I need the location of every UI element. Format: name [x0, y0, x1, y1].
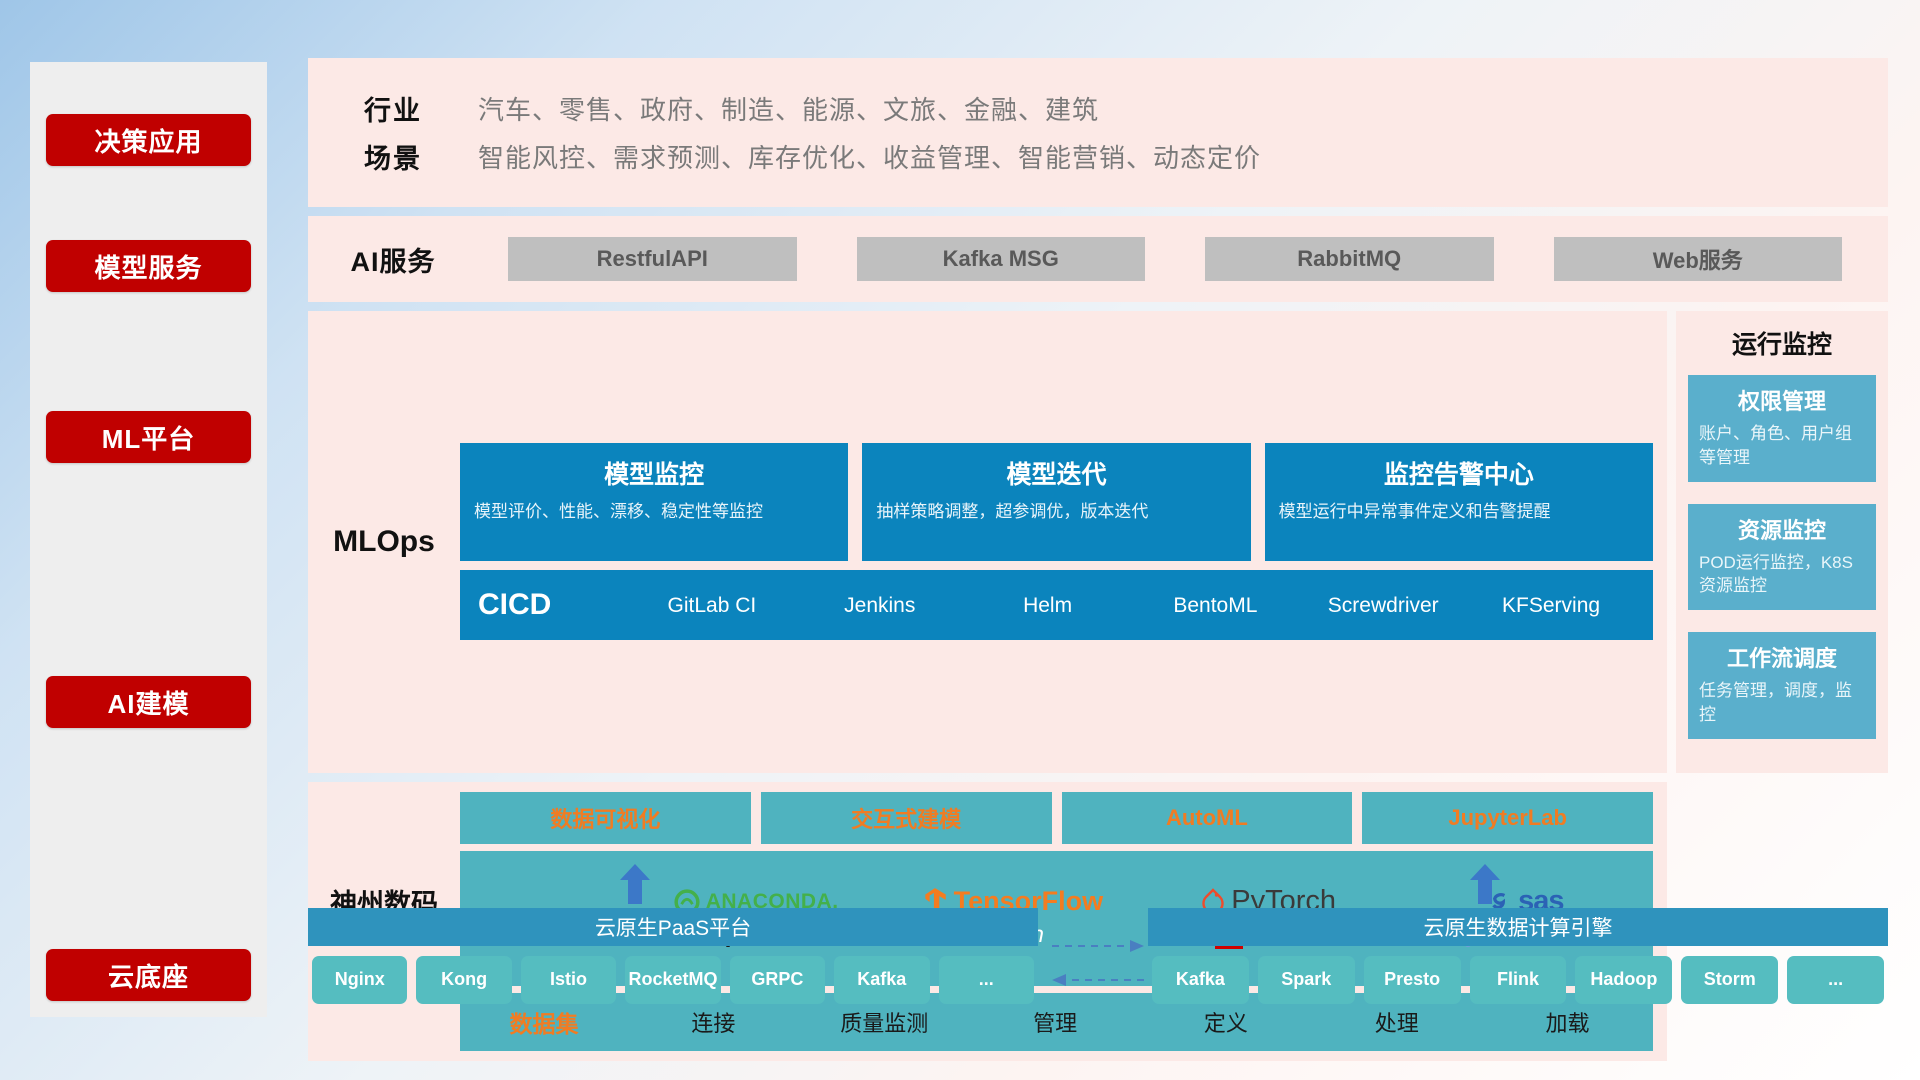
monitor-card-title: 权限管理 [1699, 384, 1865, 416]
application-row-industry: 行业 汽车、零售、政府、制造、能源、文旅、金融、建筑 [308, 89, 1888, 128]
service-chip-label: RestfulAPI [597, 246, 708, 272]
cicd-bar: CICD GitLab CI Jenkins Helm BentoML Scre… [460, 570, 1653, 640]
mlops-card-desc: 模型评价、性能、漂移、稳定性等监控 [474, 500, 834, 525]
paas-chip-grpc[interactable]: GRPC [730, 956, 825, 1004]
paas-chip-kong[interactable]: Kong [416, 956, 511, 1004]
service-chip-kafka-msg[interactable]: Kafka MSG [857, 237, 1146, 281]
rail-badge-ai-modeling[interactable]: AI建模 [46, 676, 251, 728]
cloud-native-data-engine-title: 云原生数据计算引擎 [1148, 908, 1888, 946]
paas-chip-list: Nginx Kong Istio RocketMQ GRPC Kafka ... [308, 946, 1038, 1010]
mlops-card-title: 模型迭代 [876, 455, 1236, 491]
mlops-and-monitor-row: MLOps 模型监控 模型评价、性能、漂移、稳定性等监控 模型迭代 抽样策略调整… [308, 311, 1888, 773]
cicd-item-jenkins[interactable]: Jenkins [796, 594, 964, 617]
rail-badge-ml-platform[interactable]: ML平台 [46, 411, 251, 463]
monitor-card-permission[interactable]: 权限管理 账户、角色、用户组等管理 [1688, 375, 1876, 482]
rail-badge-label: 模型服务 [94, 248, 202, 285]
mlops-card-desc: 模型运行中异常事件定义和告警提醒 [1279, 500, 1639, 525]
ai-service-band: AI服务 RestfulAPI Kafka MSG RabbitMQ Web服务 [308, 216, 1888, 302]
paas-chip-istio[interactable]: Istio [521, 956, 616, 1004]
mlops-label: MLOps [308, 525, 460, 559]
paas-chip-rocketmq[interactable]: RocketMQ [625, 956, 720, 1004]
lab-tab-jupyterlab[interactable]: JupyterLab [1362, 792, 1653, 844]
monitor-card-desc: 账户、角色、用户组等管理 [1699, 422, 1865, 470]
rail-badge-cloud-base[interactable]: 云底座 [46, 949, 251, 1001]
service-chip-label: Kafka MSG [943, 246, 1059, 272]
mlops-card-model-iteration[interactable]: 模型迭代 抽样策略调整，超参调优，版本迭代 [862, 443, 1250, 561]
engine-chip-storm[interactable]: Storm [1681, 956, 1778, 1004]
mlops-card-desc: 抽样策略调整，超参调优，版本迭代 [876, 500, 1236, 525]
engine-chip-kafka[interactable]: Kafka [1152, 956, 1249, 1004]
scenario-value: 智能风控、需求预测、库存优化、收益管理、智能营销、动态定价 [478, 138, 1261, 175]
cloud-native-paas-box: 云原生PaaS平台 Nginx Kong Istio RocketMQ GRPC… [308, 908, 1038, 1010]
monitor-card-title: 工作流调度 [1699, 641, 1865, 673]
paas-chip-more[interactable]: ... [939, 956, 1034, 1004]
cicd-item-bentoml[interactable]: BentoML [1131, 594, 1299, 617]
cicd-item-kfserving[interactable]: KFServing [1467, 594, 1635, 617]
mlops-card-model-monitoring[interactable]: 模型监控 模型评价、性能、漂移、稳定性等监控 [460, 443, 848, 561]
rail-badge-label: 云底座 [108, 957, 189, 994]
runtime-monitor-title: 运行监控 [1688, 325, 1876, 361]
engine-chip-hadoop[interactable]: Hadoop [1575, 956, 1672, 1004]
rail-badge-label: AI建模 [107, 684, 189, 721]
mlops-card-alert-center[interactable]: 监控告警中心 模型运行中异常事件定义和告警提醒 [1265, 443, 1653, 561]
cicd-title: CICD [478, 588, 628, 622]
mlops-card-title: 监控告警中心 [1279, 455, 1639, 491]
service-chip-rabbitmq[interactable]: RabbitMQ [1205, 237, 1494, 281]
scenario-key: 场景 [308, 137, 478, 176]
engine-chip-presto[interactable]: Presto [1364, 956, 1461, 1004]
application-band: 行业 汽车、零售、政府、制造、能源、文旅、金融、建筑 场景 智能风控、需求预测、… [308, 58, 1888, 207]
industry-key: 行业 [308, 89, 478, 128]
service-chip-label: Web服务 [1653, 243, 1743, 275]
paas-chip-kafka[interactable]: Kafka [834, 956, 929, 1004]
lab-tab-data-visualization[interactable]: 数据可视化 [460, 792, 751, 844]
service-chip-web-service[interactable]: Web服务 [1554, 237, 1843, 281]
service-chip-label: RabbitMQ [1297, 246, 1401, 272]
ai-service-chip-grid: RestfulAPI Kafka MSG RabbitMQ Web服务 [478, 237, 1888, 281]
industry-value: 汽车、零售、政府、制造、能源、文旅、金融、建筑 [478, 90, 1099, 127]
bidirectional-dashed-connector-icon [1050, 928, 1146, 1000]
data-engine-chip-list: Kafka Spark Presto Flink Hadoop Storm ..… [1148, 946, 1888, 1010]
monitor-card-desc: POD运行监控，K8S资源监控 [1699, 551, 1865, 599]
cicd-item-screwdriver[interactable]: Screwdriver [1299, 594, 1467, 617]
mlops-card-title: 模型监控 [474, 455, 834, 491]
cloud-native-paas-title: 云原生PaaS平台 [308, 908, 1038, 946]
cloud-foundation-area: 云原生PaaS平台 Nginx Kong Istio RocketMQ GRPC… [308, 890, 1888, 1040]
rail-badge-label: ML平台 [102, 419, 196, 456]
arrow-up-data-engine-icon [1468, 864, 1502, 904]
cloud-native-data-engine-box: 云原生数据计算引擎 Kafka Spark Presto Flink Hadoo… [1148, 908, 1888, 1010]
rail-badge-decision-app[interactable]: 决策应用 [46, 114, 251, 166]
application-row-scenario: 场景 智能风控、需求预测、库存优化、收益管理、智能营销、动态定价 [308, 137, 1888, 176]
engine-chip-more[interactable]: ... [1787, 956, 1884, 1004]
runtime-monitor-panel: 运行监控 权限管理 账户、角色、用户组等管理 资源监控 POD运行监控，K8S资… [1676, 311, 1888, 773]
mlops-band: MLOps 模型监控 模型评价、性能、漂移、稳定性等监控 模型迭代 抽样策略调整… [308, 311, 1667, 773]
cicd-item-gitlab-ci[interactable]: GitLab CI [628, 594, 796, 617]
lab-tab-interactive-modeling[interactable]: 交互式建模 [761, 792, 1052, 844]
paas-chip-nginx[interactable]: Nginx [312, 956, 407, 1004]
mlops-card-list: 模型监控 模型评价、性能、漂移、稳定性等监控 模型迭代 抽样策略调整，超参调优，… [460, 443, 1653, 561]
monitor-card-desc: 任务管理，调度，监控 [1699, 679, 1865, 727]
ai-service-label: AI服务 [308, 240, 478, 279]
engine-chip-spark[interactable]: Spark [1258, 956, 1355, 1004]
monitor-card-resource[interactable]: 资源监控 POD运行监控，K8S资源监控 [1688, 504, 1876, 611]
stack-layer-rail: 决策应用 模型服务 ML平台 AI建模 云底座 [30, 62, 267, 1017]
cicd-item-helm[interactable]: Helm [964, 594, 1132, 617]
engine-chip-flink[interactable]: Flink [1470, 956, 1567, 1004]
rail-badge-label: 决策应用 [94, 122, 202, 159]
arrow-up-paas-icon [618, 864, 652, 904]
service-chip-restfulapi[interactable]: RestfulAPI [508, 237, 797, 281]
monitor-card-title: 资源监控 [1699, 513, 1865, 545]
monitor-card-workflow[interactable]: 工作流调度 任务管理，调度，监控 [1688, 632, 1876, 739]
rail-badge-model-service[interactable]: 模型服务 [46, 240, 251, 292]
lab-tab-automl[interactable]: AutoML [1062, 792, 1353, 844]
ml-lab-tab-list: 数据可视化 交互式建模 AutoML JupyterLab [460, 792, 1653, 844]
